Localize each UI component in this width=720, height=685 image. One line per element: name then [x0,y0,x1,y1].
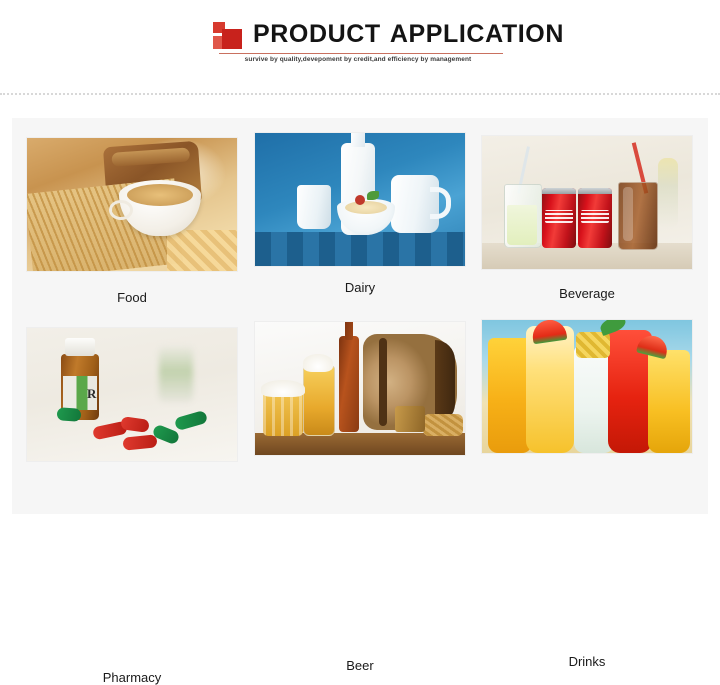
blue-table-shape [255,232,465,266]
page-subtitle: survive by quality,devepoment by credit,… [213,56,503,63]
red-squares-logo-icon [213,22,243,49]
beer-bottle-shape [339,336,359,432]
beer-image [255,322,465,455]
page-title: PRODUCTAPPLICATION [253,20,564,49]
bottle-cap-shape [65,338,95,356]
product-label-dairy: Dairy [255,280,465,295]
capsule-green-3 [174,410,208,431]
lemonade-glass-shape [504,184,542,248]
page-header: PRODUCTAPPLICATION survive by quality,de… [0,0,720,92]
mint-leaf-shape [367,191,379,200]
content-panel: Food Dairy [12,118,708,514]
rx-letter: R [87,386,96,402]
title-underline [219,53,503,54]
juice-glass-5 [648,350,690,453]
dairy-image [255,133,465,266]
milk-jug-shape [391,175,439,233]
cereal-flakes-shape [167,230,237,271]
product-thumbnail-food[interactable] [27,138,237,271]
flower-vase-shape [658,158,678,228]
milk-cup-shape [297,185,331,229]
beer-foam-glass [303,354,333,372]
juice-glass-2 [526,326,574,453]
pineapple-garnish [576,332,610,358]
background-blur-shape [159,346,193,402]
pharmacy-image: R [27,328,237,461]
cola-can-left-shape [542,188,576,248]
drinks-image [482,320,692,453]
iced-cola-glass-shape [618,182,658,250]
product-thumbnail-dairy[interactable] [255,133,465,266]
capsule-red-3 [122,434,157,450]
berry-garnish-shape [355,195,365,205]
food-image [27,138,237,271]
product-thumbnail-beer[interactable] [255,322,465,455]
product-thumbnail-pharmacy[interactable]: R [27,328,237,461]
capsule-green-1 [57,407,82,422]
beer-glass-shape [303,366,335,436]
product-grid: Food Dairy [27,128,707,508]
product-label-food: Food [27,290,237,305]
logo-square-main [222,29,242,49]
logo-block: PRODUCTAPPLICATION survive by quality,de… [213,20,503,70]
product-thumbnail-drinks[interactable] [482,320,692,453]
beverage-image [482,136,692,269]
barley-grain-shape [423,414,463,436]
cola-can-right-shape [578,188,612,248]
product-label-beverage: Beverage [482,286,692,301]
beer-mug-shape [263,392,303,436]
beer-foam-mug [261,380,305,397]
barrel-tap-shape [395,406,425,432]
product-label-beer: Beer [255,658,465,673]
page-title-word-product: PRODUCT [253,20,381,48]
product-thumbnail-beverage[interactable] [482,136,692,269]
header-divider [0,93,720,95]
page-title-word-application: APPLICATION [390,20,564,48]
table-surface-shape [255,433,465,455]
product-label-pharmacy: Pharmacy [27,670,237,685]
product-label-drinks: Drinks [482,654,692,669]
